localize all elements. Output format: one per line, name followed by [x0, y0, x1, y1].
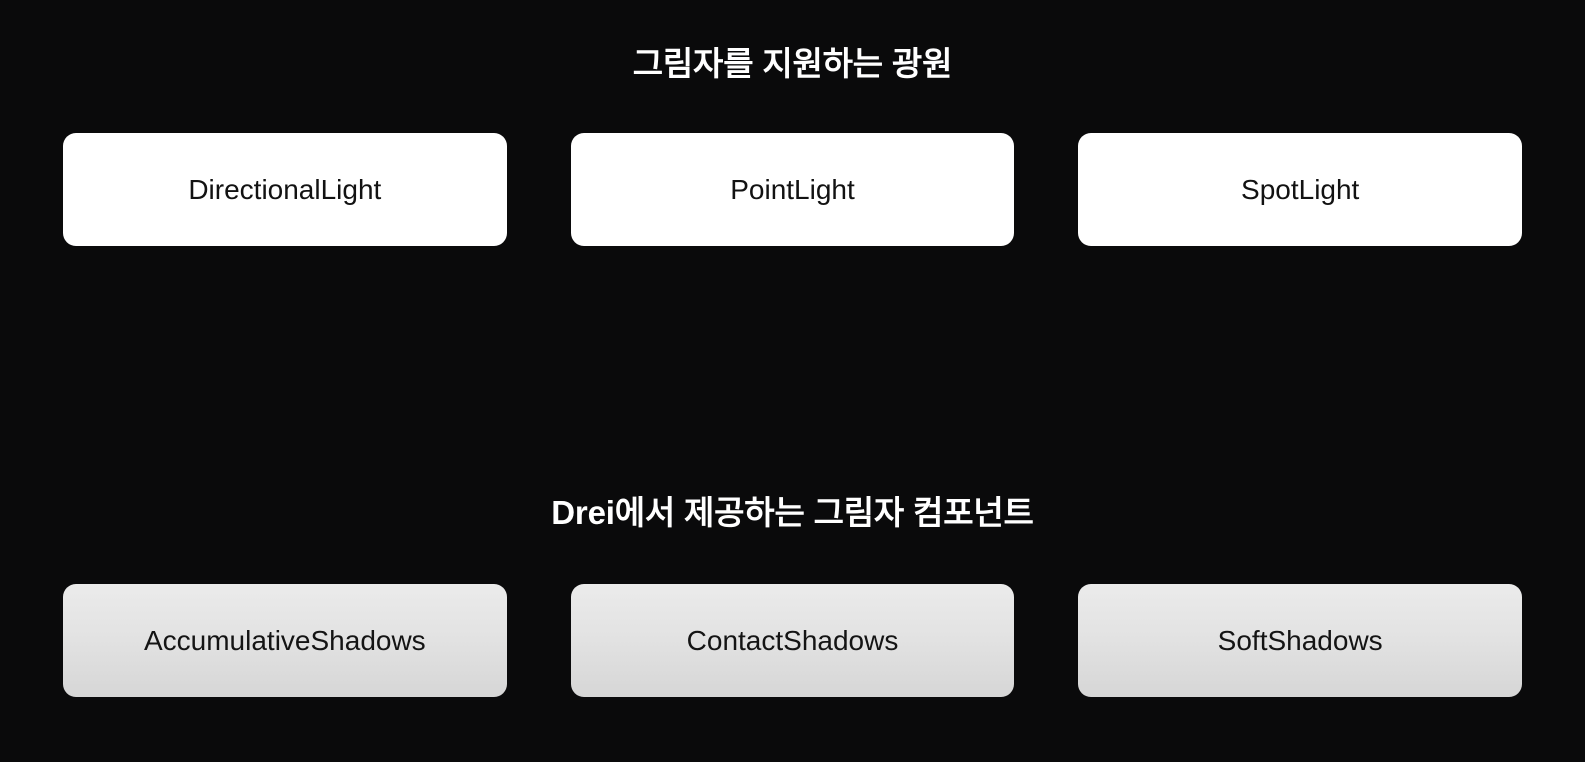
lights-button-row: DirectionalLight PointLight SpotLight: [0, 133, 1585, 246]
section-title-drei-shadows: Drei에서 제공하는 그림자 컴포넌트: [0, 470, 1585, 529]
button-spot-light[interactable]: SpotLight: [1078, 133, 1522, 246]
button-point-light[interactable]: PointLight: [571, 133, 1015, 246]
button-contact-shadows[interactable]: ContactShadows: [571, 584, 1015, 697]
section-drei-shadow-components: Drei에서 제공하는 그림자 컴포넌트 AccumulativeShadows…: [0, 470, 1585, 697]
button-accumulative-shadows[interactable]: AccumulativeShadows: [63, 584, 507, 697]
section-shadow-supporting-lights: 그림자를 지원하는 광원 DirectionalLight PointLight…: [0, 0, 1585, 246]
section-title-lights: 그림자를 지원하는 광원: [0, 0, 1585, 80]
drei-shadows-button-row: AccumulativeShadows ContactShadows SoftS…: [0, 584, 1585, 697]
button-soft-shadows[interactable]: SoftShadows: [1078, 584, 1522, 697]
page-root: 그림자를 지원하는 광원 DirectionalLight PointLight…: [0, 0, 1585, 762]
button-directional-light[interactable]: DirectionalLight: [63, 133, 507, 246]
